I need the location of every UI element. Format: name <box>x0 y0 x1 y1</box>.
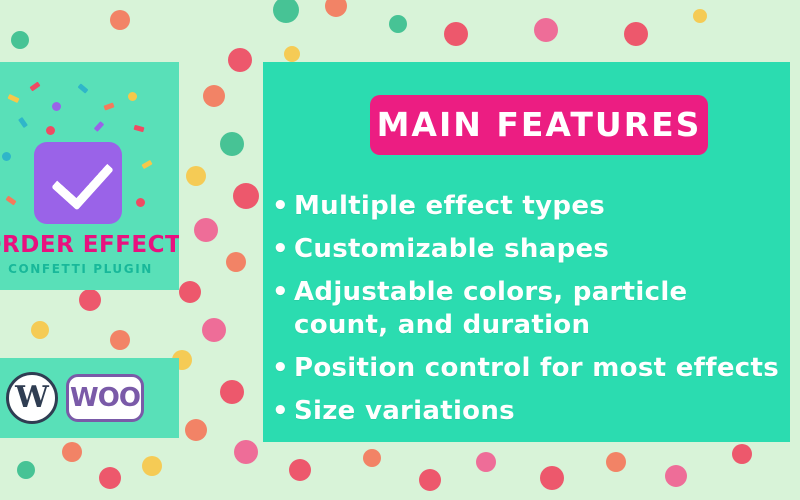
confetti-dot <box>79 289 101 311</box>
confetti-dot <box>444 22 468 46</box>
confetti-dot <box>194 218 218 242</box>
checkmark-icon <box>34 142 122 224</box>
confetti-dot <box>202 318 226 342</box>
confetti-dot <box>234 440 258 464</box>
confetti-dot <box>732 444 752 464</box>
confetti-dot <box>179 281 201 303</box>
plugin-logo-card: ORDER EFFECT CONFETTI PLUGIN <box>0 62 179 290</box>
confetti-dot <box>220 380 244 404</box>
confetti-dot <box>419 469 441 491</box>
confetti-dot <box>289 459 311 481</box>
confetti-dot <box>693 9 707 23</box>
confetti-dot <box>185 419 207 441</box>
confetti-dot <box>220 132 244 156</box>
confetti-dot <box>31 321 49 339</box>
confetti-dot <box>62 442 82 462</box>
confetti-dot <box>186 166 206 186</box>
feature-item: Customizable shapes <box>266 233 790 266</box>
logo-title: ORDER EFFECT <box>0 232 179 258</box>
confetti-dot <box>389 15 407 33</box>
promo-banner: ORDER EFFECT CONFETTI PLUGIN W WOO MAIN … <box>0 0 800 500</box>
confetti-dot <box>226 252 246 272</box>
confetti-dot <box>534 18 558 42</box>
confetti-dot <box>110 10 130 30</box>
features-list: Multiple effect types Customizable shape… <box>266 190 790 438</box>
confetti-dot <box>233 183 259 209</box>
feature-item: Position control for most effects <box>266 352 790 385</box>
confetti-dot <box>99 467 121 489</box>
feature-item: Multiple effect types <box>266 190 790 223</box>
features-title: MAIN FEATURES <box>370 95 708 155</box>
main-features-panel: MAIN FEATURES Multiple effect types Cust… <box>263 62 790 442</box>
logo-subtitle: CONFETTI PLUGIN <box>0 262 179 276</box>
woocommerce-icon: WOO <box>66 374 144 422</box>
confetti-dot <box>363 449 381 467</box>
features-title-bar: MAIN FEATURES <box>370 95 708 155</box>
confetti-dot <box>325 0 347 17</box>
platform-badges-card: W WOO <box>0 358 179 438</box>
confetti-dot <box>110 330 130 350</box>
feature-item: Size variations <box>266 395 790 428</box>
confetti-dot <box>606 452 626 472</box>
confetti-dot <box>624 22 648 46</box>
confetti-dot <box>142 456 162 476</box>
confetti-dot <box>17 461 35 479</box>
confetti-dot <box>476 452 496 472</box>
confetti-dot <box>284 46 300 62</box>
confetti-dot <box>665 465 687 487</box>
feature-item: Adjustable colors, particle count, and d… <box>266 276 790 342</box>
confetti-dot <box>273 0 299 23</box>
wordpress-icon: W <box>6 372 58 424</box>
confetti-dot <box>540 466 564 490</box>
confetti-dot <box>203 85 225 107</box>
confetti-dot <box>11 31 29 49</box>
confetti-dot <box>228 48 252 72</box>
